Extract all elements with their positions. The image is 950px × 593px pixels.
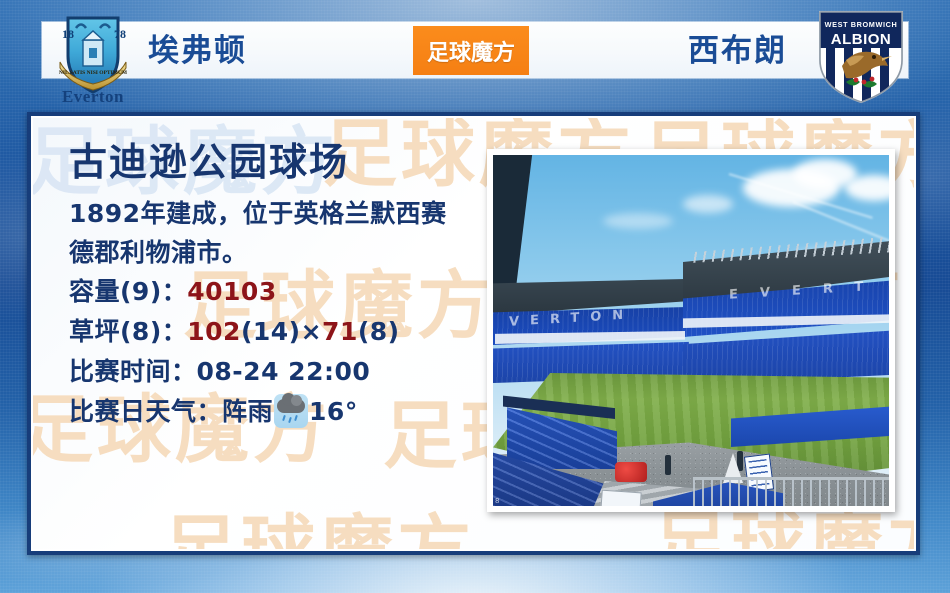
weather-temperature: 16° (309, 397, 358, 426)
weather-row: 比赛日天气：阵雨 16° (69, 392, 489, 432)
photo-red-cable-reel (615, 462, 647, 482)
svg-text:ALBION: ALBION (831, 31, 892, 48)
weather-label: 比赛日天气： (69, 397, 222, 426)
pitch-length-rating: (14) (241, 317, 301, 346)
brand-logo[interactable]: 足球魔方 (413, 26, 529, 75)
stadium-info-card: 足球魔方 足球魔方 足球魔方 足球魔方 足球魔方 足球魔方 足球魔方 足球魔方 … (27, 112, 920, 555)
svg-text:Everton: Everton (62, 87, 124, 104)
match-header: NIL SATIS NISI OPTIMUM 18 78 Everton 埃弗顿… (0, 0, 950, 100)
pitch-width-rating: (8) (358, 317, 400, 346)
stadium-info-block: 古迪逊公园球场 1892年建成，位于英格兰默西赛 德郡利物浦市。 容量(9)：4… (69, 136, 489, 432)
match-time-row: 比赛时间：08-24 22:00 (69, 352, 489, 392)
pitch-label: 草坪(8)： (69, 317, 187, 346)
goodison-park-stadium-photo: VERTON EVERT (493, 155, 889, 506)
pitch-times-symbol: × (301, 317, 322, 346)
svg-text:78: 78 (114, 27, 126, 41)
shower-rain-icon (274, 394, 308, 428)
stadium-photo-frame[interactable]: VERTON EVERT (487, 149, 895, 512)
brand-logo-text: 足球魔方 (427, 35, 515, 67)
capacity-row: 容量(9)：40103 (69, 272, 489, 312)
watermark: 足球魔方 (163, 490, 475, 549)
capacity-value: 40103 (187, 277, 276, 306)
match-time-label: 比赛时间： (69, 357, 197, 386)
everton-crest-icon: NIL SATIS NISI OPTIMUM 18 78 Everton (38, 4, 148, 104)
pitch-width: 71 (322, 317, 358, 346)
stadium-title: 古迪逊公园球场 (69, 136, 489, 188)
pitch-row: 草坪(8)：102(14)×71(8) (69, 312, 489, 352)
away-team-name: 西布朗 (688, 28, 787, 74)
card-inner-frame: 足球魔方 足球魔方 足球魔方 足球魔方 足球魔方 足球魔方 足球魔方 足球魔方 … (31, 116, 916, 551)
west-bromwich-albion-crest-icon: WEST BROMWICH ALBION (812, 4, 910, 106)
svg-text:WEST BROMWICH: WEST BROMWICH (825, 20, 898, 29)
pitch-length: 102 (187, 317, 241, 346)
svg-text:NIL SATIS NISI OPTIMUM: NIL SATIS NISI OPTIMUM (59, 70, 128, 76)
photo-corner-mark: 8 (495, 497, 499, 505)
weather-condition: 阵雨 (222, 397, 273, 426)
photo-bollard (665, 455, 671, 475)
home-team-name: 埃弗顿 (148, 28, 247, 74)
photo-notice-plate (600, 490, 641, 506)
photo-mesh-railing (693, 477, 889, 506)
stadium-description-line-2: 德郡利物浦市。 (69, 233, 489, 272)
capacity-label: 容量(9)： (69, 277, 187, 306)
svg-text:18: 18 (62, 27, 74, 41)
match-time-value: 08-24 22:00 (197, 357, 371, 386)
stadium-description-line-1: 1892年建成，位于英格兰默西赛 (69, 194, 489, 233)
